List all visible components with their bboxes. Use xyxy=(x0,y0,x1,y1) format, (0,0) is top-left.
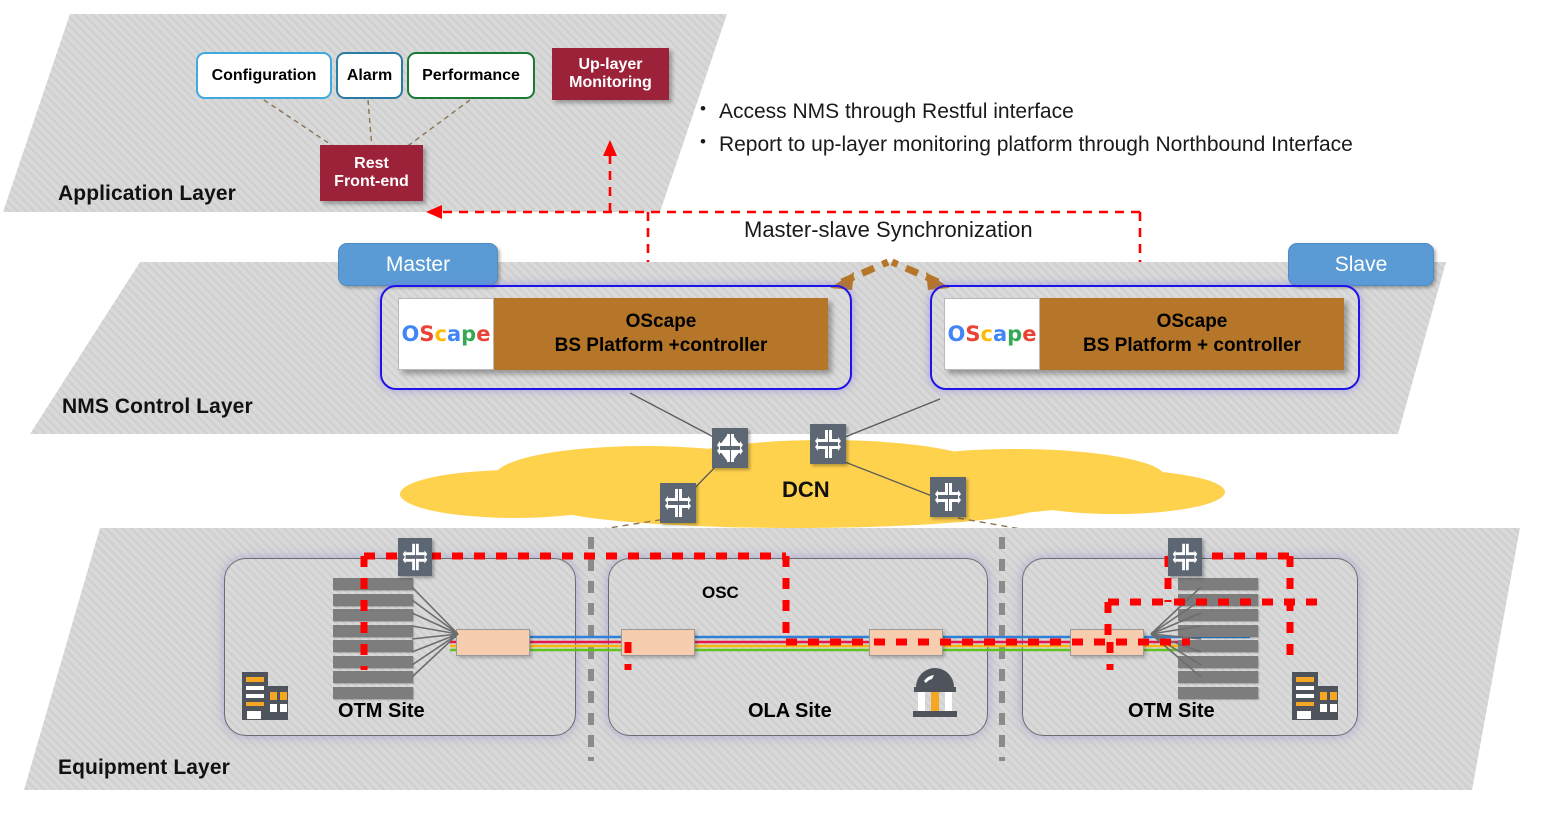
bullet-item-1: • Access NMS through Restful interface xyxy=(700,96,1353,129)
slave-tag-label: Slave xyxy=(1335,253,1388,277)
rack-stack-otm-right[interactable] xyxy=(1178,578,1258,699)
mux-box-otm-left[interactable] xyxy=(456,629,530,656)
amplifier-box-ola-1[interactable] xyxy=(621,629,695,656)
dcn-label: DCN xyxy=(782,477,830,503)
router-icon-dcn-4[interactable] xyxy=(930,477,966,517)
slave-oscape-subtitle: BS Platform + controller xyxy=(1083,334,1301,358)
router-icon-dcn-1[interactable] xyxy=(712,428,748,468)
app-module-configuration-label: Configuration xyxy=(212,67,317,85)
app-module-alarm-label: Alarm xyxy=(347,67,392,85)
up-layer-monitoring-line1: Up-layer xyxy=(578,56,642,74)
router-icon-dcn-2[interactable] xyxy=(810,424,846,464)
office-building-icon-left xyxy=(238,668,290,722)
slave-oscape-title: OScape xyxy=(1157,310,1228,334)
slave-tag-button[interactable]: Slave xyxy=(1288,243,1434,286)
mux-box-otm-right[interactable] xyxy=(1070,629,1144,656)
master-oscape-logo-text: OScape xyxy=(402,324,491,345)
osc-label: OSC xyxy=(702,583,739,603)
bullet-marker-1: • xyxy=(700,96,706,129)
app-module-alarm[interactable]: Alarm xyxy=(336,52,403,99)
site-label-ola-mid: OLA Site xyxy=(748,700,832,723)
router-icon-otm-left[interactable] xyxy=(398,538,432,576)
bullet-item-2: • Report to up-layer monitoring platform… xyxy=(700,129,1353,162)
office-building-icon-right xyxy=(1288,668,1340,722)
application-bullet-list: • Access NMS through Restful interface •… xyxy=(700,96,1353,161)
slave-oscape-body: OScape BS Platform + controller xyxy=(1040,298,1344,370)
master-oscape-title: OScape xyxy=(626,310,697,334)
master-tag-label: Master xyxy=(386,253,450,277)
site-label-otm-left: OTM Site xyxy=(338,700,425,723)
equipment-layer-label: Equipment Layer xyxy=(58,756,230,780)
master-oscape-subtitle: BS Platform +controller xyxy=(555,334,768,358)
bullet-marker-2: • xyxy=(700,129,706,162)
master-slave-sync-label: Master-slave Synchronization xyxy=(744,217,1033,243)
rest-front-end-line1: Rest xyxy=(354,155,389,173)
slave-oscape-row[interactable]: OScape OScape BS Platform + controller xyxy=(944,298,1344,370)
bullet-text-1: Access NMS through Restful interface xyxy=(719,96,1074,129)
slave-oscape-logo: OScape xyxy=(944,298,1040,370)
master-tag-button[interactable]: Master xyxy=(338,243,498,286)
rest-front-end-box[interactable]: Rest Front-end xyxy=(320,145,423,201)
bullet-text-2: Report to up-layer monitoring platform t… xyxy=(719,129,1353,162)
institution-building-icon xyxy=(908,665,962,721)
diagram-canvas: Application Layer Configuration Alarm Pe… xyxy=(0,0,1556,820)
app-module-configuration[interactable]: Configuration xyxy=(196,52,332,99)
amplifier-box-ola-2[interactable] xyxy=(869,629,943,656)
master-oscape-logo: OScape xyxy=(398,298,494,370)
app-module-performance-label: Performance xyxy=(422,67,520,85)
up-layer-monitoring-line2: Monitoring xyxy=(569,74,652,92)
rack-stack-otm-left[interactable] xyxy=(333,578,413,699)
site-label-otm-right: OTM Site xyxy=(1128,700,1215,723)
master-oscape-row[interactable]: OScape OScape BS Platform +controller xyxy=(398,298,828,370)
router-icon-otm-right[interactable] xyxy=(1168,538,1202,576)
rest-front-end-line2: Front-end xyxy=(334,173,409,191)
master-oscape-body: OScape BS Platform +controller xyxy=(494,298,828,370)
app-module-performance[interactable]: Performance xyxy=(407,52,535,99)
router-icon-dcn-3[interactable] xyxy=(660,483,696,523)
nms-control-layer-label: NMS Control Layer xyxy=(62,395,253,419)
up-layer-monitoring-box[interactable]: Up-layer Monitoring xyxy=(552,48,669,100)
slave-oscape-logo-text: OScape xyxy=(948,324,1037,345)
